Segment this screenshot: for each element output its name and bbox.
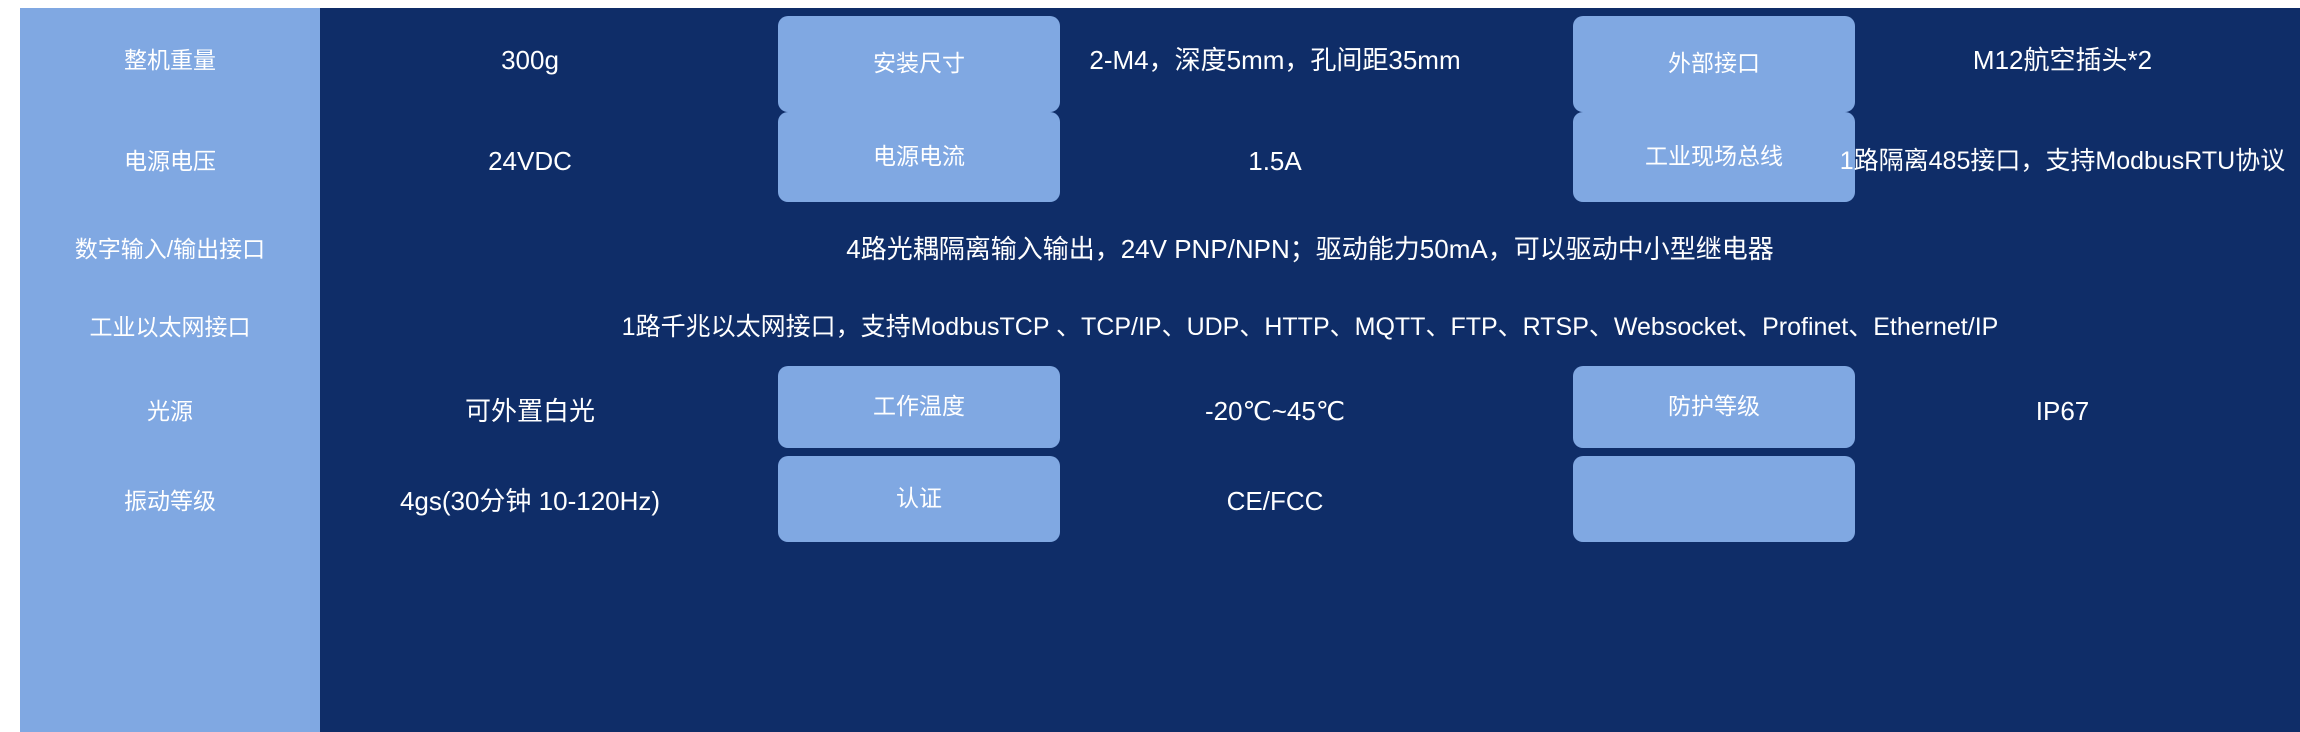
row-value-protection-rating: IP67	[1825, 366, 2300, 456]
row-value-mounting-size: 2-M4，深度5mm，孔间距35mm	[1030, 8, 1520, 112]
row-value-digital-io: 4路光耦隔离输入输出，24V PNP/NPN；驱动能力50mA，可以驱动中小型继…	[320, 210, 2300, 288]
specification-table: 整机重量 300g 安装尺寸 2-M4，深度5mm，孔间距35mm 外部接口 M…	[0, 0, 2300, 732]
row-label-operating-temperature: 工作温度	[778, 366, 1060, 448]
row-value-certification: CE/FCC	[1030, 456, 1520, 546]
row-value-power-voltage: 24VDC	[320, 112, 740, 210]
row-label-protection-rating: 防护等级	[1573, 366, 1855, 448]
row-value-fieldbus: 1路隔离485接口，支持ModbusRTU协议	[1825, 112, 2300, 210]
row-label-mounting-size: 安装尺寸	[778, 16, 1060, 112]
table-row: 整机重量 300g 安装尺寸 2-M4，深度5mm，孔间距35mm 外部接口 M…	[0, 8, 2300, 112]
table-row: 工业以太网接口 1路千兆以太网接口，支持ModbusTCP 、TCP/IP、UD…	[0, 288, 2300, 366]
table-row: 电源电压 24VDC 电源电流 1.5A 工业现场总线 1路隔离485接口，支持…	[0, 112, 2300, 210]
row-label-light-source: 光源	[20, 366, 320, 456]
row-label-vibration-grade: 振动等级	[20, 456, 320, 546]
row-value-operating-temperature: -20℃~45℃	[1030, 366, 1520, 456]
row-label-fieldbus: 工业现场总线	[1573, 112, 1855, 202]
row-value-light-source: 可外置白光	[320, 366, 740, 456]
row-value-weight: 300g	[320, 8, 740, 112]
row-label-digital-io: 数字输入/输出接口	[20, 210, 320, 288]
row-label-power-current: 电源电流	[778, 112, 1060, 202]
table-row: 数字输入/输出接口 4路光耦隔离输入输出，24V PNP/NPN；驱动能力50m…	[0, 210, 2300, 288]
row-label-empty	[1573, 456, 1855, 542]
row-value-empty	[1825, 456, 2300, 546]
row-value-industrial-ethernet: 1路千兆以太网接口，支持ModbusTCP 、TCP/IP、UDP、HTTP、M…	[320, 288, 2300, 366]
row-value-vibration-grade: 4gs(30分钟 10-120Hz)	[320, 456, 740, 546]
table-row: 光源 可外置白光 工作温度 -20℃~45℃ 防护等级 IP67	[0, 366, 2300, 456]
row-value-external-interface: M12航空插头*2	[1825, 8, 2300, 112]
row-label-power-voltage: 电源电压	[20, 112, 320, 210]
row-label-certification: 认证	[778, 456, 1060, 542]
row-value-power-current: 1.5A	[1030, 112, 1520, 210]
row-label-weight: 整机重量	[20, 8, 320, 112]
row-label-external-interface: 外部接口	[1573, 16, 1855, 112]
table-row: 振动等级 4gs(30分钟 10-120Hz) 认证 CE/FCC	[0, 456, 2300, 546]
row-label-industrial-ethernet: 工业以太网接口	[20, 288, 320, 366]
